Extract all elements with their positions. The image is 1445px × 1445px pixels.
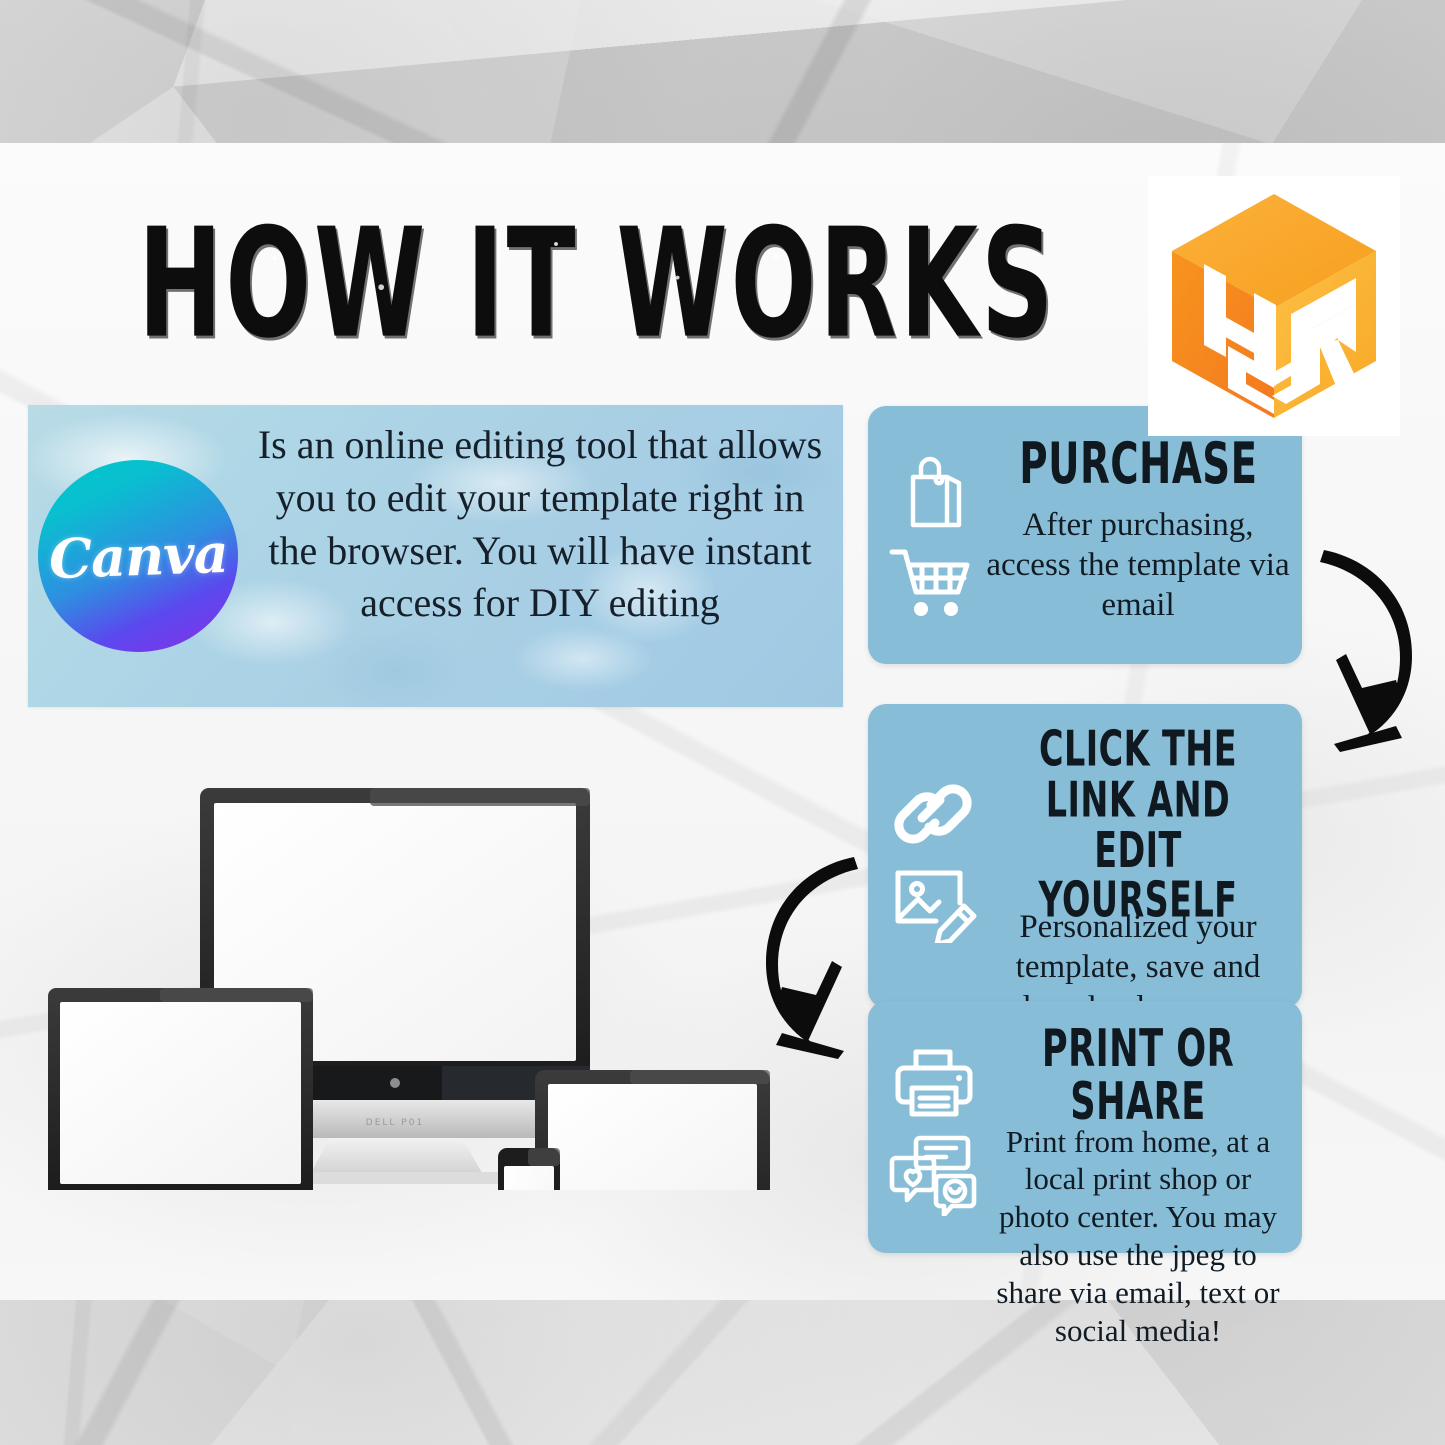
purchase-card-title: PURCHASE (1019, 436, 1257, 494)
brand-logo-box (1148, 176, 1400, 436)
step-card-print-share[interactable]: PRINT OR SHARE Print from home, at a loc… (868, 1001, 1302, 1253)
device-mockup-image: DELL P01 (30, 770, 770, 1190)
shopping-cart-icon (888, 544, 980, 620)
tablet-mockup (535, 1070, 770, 1190)
print-share-card-title: PRINT OR SHARE (1004, 1023, 1272, 1129)
chat-bubbles-icon (888, 1130, 980, 1216)
canva-info-banner: Canva Is an online editing tool that all… (28, 405, 843, 707)
print-share-card-icons (882, 1015, 986, 1239)
step-card-click-edit[interactable]: CLICK THE LINK AND EDIT YOURSELF Persona… (868, 704, 1302, 1008)
purchase-card-icons (882, 420, 986, 650)
laptop-mockup (32, 988, 330, 1190)
printer-icon (890, 1038, 978, 1124)
infographic-canvas: HOW IT WORKS (0, 0, 1445, 1445)
canva-description: Is an online editing tool that allows yo… (250, 419, 830, 630)
canva-logo-icon: Canva (38, 460, 238, 652)
chain-link-icon (889, 769, 979, 853)
arrow-step1-to-step2-icon (1300, 538, 1430, 753)
step-card-purchase[interactable]: PURCHASE After purchasing, access the te… (868, 406, 1302, 664)
print-share-card-body: PRINT OR SHARE Print from home, at a loc… (986, 1011, 1290, 1245)
image-edit-icon (888, 859, 980, 943)
purchase-card-body: PURCHASE After purchasing, access the te… (986, 416, 1290, 656)
canva-wordmark: Canva (48, 521, 229, 591)
hrg-cube-logo-icon (1168, 192, 1380, 420)
page-title: HOW IT WORKS (138, 208, 875, 359)
purchase-card-description: After purchasing, access the template vi… (986, 505, 1290, 626)
click-edit-card-icons (882, 718, 986, 994)
arrow-step2-to-step3-icon (748, 845, 878, 1060)
click-edit-card-body: CLICK THE LINK AND EDIT YOURSELF Persona… (986, 714, 1290, 1000)
shopping-bag-icon (891, 450, 977, 538)
svg-text:DELL P01: DELL P01 (366, 1118, 424, 1128)
click-edit-card-title: CLICK THE LINK AND EDIT YOURSELF (1004, 724, 1272, 926)
smartphone-mockup (498, 1148, 560, 1190)
print-share-card-description: Print from home, at a local print shop o… (986, 1123, 1290, 1350)
